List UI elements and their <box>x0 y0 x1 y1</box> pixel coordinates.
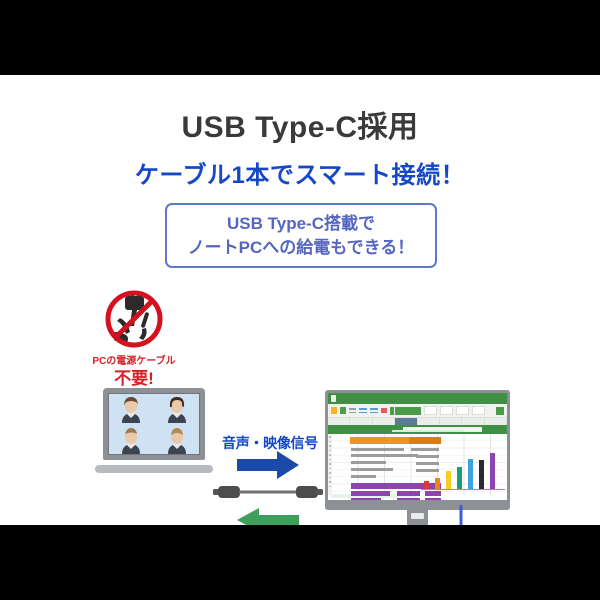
toolbar-cell-2[interactable] <box>440 406 453 415</box>
spreadsheet-body <box>328 434 507 495</box>
spreadsheet-grid <box>332 434 507 495</box>
laptop-base <box>95 465 213 473</box>
chart-bar <box>479 460 484 489</box>
page-title: USB Type-C採用 <box>0 102 600 146</box>
toolbar-cell-3[interactable] <box>456 406 469 415</box>
chart-bar <box>435 478 440 489</box>
power-cord <box>455 505 565 525</box>
highlighted-row-orange-accent <box>409 437 441 444</box>
participant-tile <box>109 425 153 454</box>
monitor-bezel <box>325 390 510 510</box>
signal-label: 音声・映像信号 <box>205 433 335 453</box>
chart-bar <box>446 471 451 489</box>
laptop-lid <box>103 388 205 460</box>
spreadsheet-header-band <box>328 425 507 434</box>
chart-bar <box>468 459 473 489</box>
no-cable-label-large: 不要! <box>74 364 194 389</box>
content-area: USB Type-C採用 ケーブル1本でスマート接続！ USB Type-C搭載… <box>0 75 600 525</box>
spreadsheet-titlebar <box>328 393 507 404</box>
laptop-screen <box>108 393 200 455</box>
toolbar-group-list[interactable] <box>390 407 421 415</box>
participant-tile <box>155 394 199 423</box>
highlighted-row-purple <box>425 491 441 496</box>
power-arrow-left-icon <box>237 508 299 525</box>
highlighted-row-purple <box>351 491 390 496</box>
toolbar-icon-menu[interactable] <box>496 407 504 415</box>
callout-line-2: ノートPCへの給電もできる！ <box>188 236 415 259</box>
chart-bar <box>490 453 495 489</box>
highlighted-row-purple <box>397 491 420 496</box>
toolbar-group-lines[interactable] <box>349 408 356 413</box>
slide-canvas: USB Type-C採用 ケーブル1本でスマート接続！ USB Type-C搭載… <box>0 0 600 600</box>
usb-type-c-cable-icon <box>213 484 323 505</box>
toolbar-group-align[interactable] <box>340 407 346 414</box>
laptop-video-conference-icon <box>95 388 213 473</box>
prohibition-power-cable-icon <box>98 290 170 352</box>
monitor-screen <box>328 393 507 500</box>
bar-chart <box>421 453 505 491</box>
document-icon <box>331 395 336 402</box>
participant-tile <box>109 394 153 423</box>
chart-bar <box>424 481 429 489</box>
signal-arrow-right-icon <box>237 451 299 484</box>
callout-line-1: USB Type-C搭載で <box>227 212 375 235</box>
callout-box: USB Type-C搭載で ノートPCへの給電もできる！ <box>165 203 437 268</box>
toolbar-group-filter[interactable] <box>359 408 367 413</box>
toolbar-icon-align[interactable] <box>340 407 346 414</box>
page-subtitle: ケーブル1本でスマート接続！ <box>0 155 600 190</box>
spreadsheet-toolbar <box>328 404 507 418</box>
toolbar-group-sort[interactable] <box>370 408 378 413</box>
monitor-stand-notch <box>411 513 424 519</box>
toolbar-cell-1[interactable] <box>424 406 437 415</box>
highlighted-row-purple <box>351 498 381 500</box>
chart-bar <box>457 467 462 489</box>
highlighted-row-purple <box>425 498 441 500</box>
toolbar-cell-4[interactable] <box>472 406 485 415</box>
spreadsheet-column-headers[interactable] <box>328 418 507 425</box>
toolbar-icon-format[interactable] <box>331 407 337 414</box>
highlighted-row-purple <box>397 498 420 500</box>
participant-tile <box>155 425 199 454</box>
toolbar-icon-alert[interactable] <box>381 408 387 413</box>
